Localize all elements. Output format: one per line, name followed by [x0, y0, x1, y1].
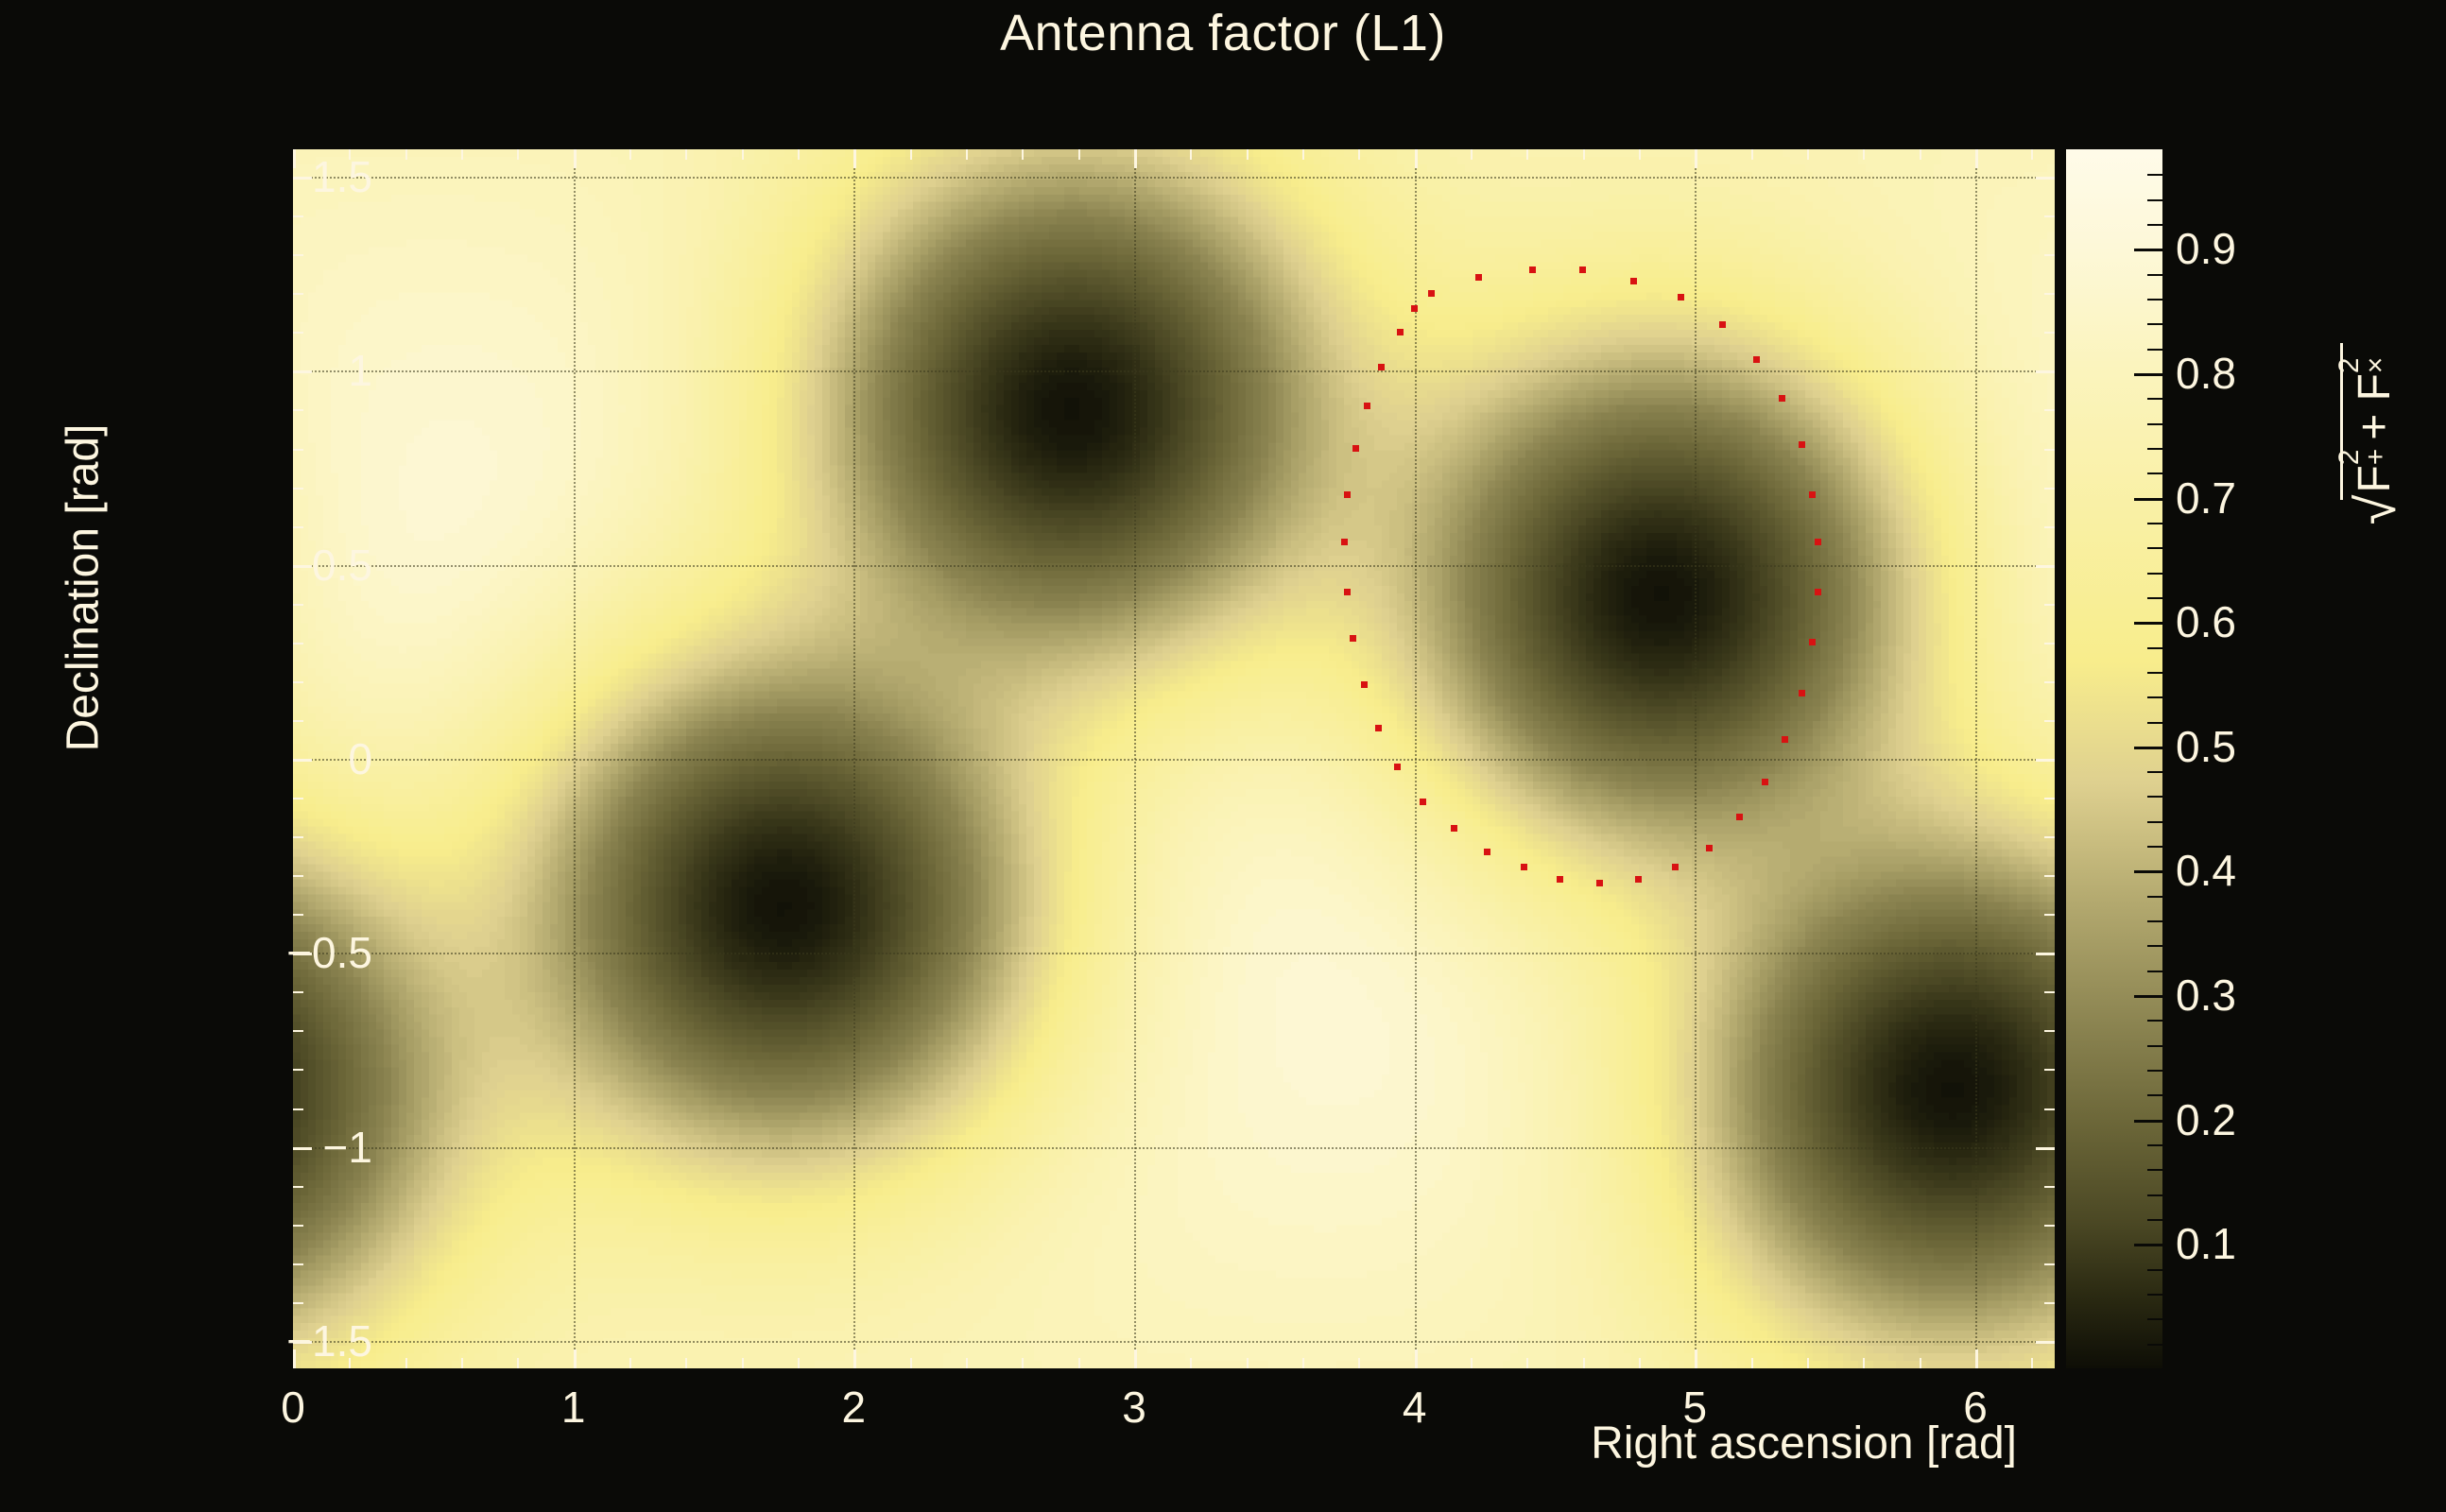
colorbar-tick-label: 0.4: [2176, 845, 2236, 896]
y-tick-minor: [293, 681, 303, 683]
colorbar-tick-minor: [2147, 647, 2162, 649]
colorbar-tick-major: [2134, 870, 2162, 873]
colorbar-tick-marks: [2066, 149, 2162, 1368]
contour-point: [1411, 305, 1418, 312]
contour-point: [1428, 290, 1435, 297]
y-axis-title: Declination [rad]: [55, 149, 112, 1368]
x-tick-minor-top: [1078, 149, 1080, 160]
contour-point: [1521, 864, 1527, 870]
colorbar-tick-minor: [2147, 349, 2162, 351]
x-tick-major: [1134, 1349, 1137, 1368]
x-tick-minor-top: [1583, 149, 1585, 160]
x-tick-minor: [517, 1358, 519, 1368]
contour-point: [1451, 825, 1457, 832]
y-tick-minor-right: [2044, 332, 2055, 334]
contour-point: [1484, 849, 1490, 855]
colorbar-tick-minor: [2147, 1344, 2162, 1346]
heatmap-image: [293, 149, 2055, 1368]
x-tick-minor: [798, 1358, 800, 1368]
x-tick-minor-top: [1807, 149, 1809, 160]
contour-point: [1579, 266, 1586, 273]
colorbar-tick-minor: [2147, 1070, 2162, 1072]
x-tick-minor-top: [910, 149, 912, 160]
colorbar-tick-minor: [2147, 821, 2162, 823]
x-tick-minor: [1302, 1358, 1304, 1368]
y-tick-minor-right: [2044, 526, 2055, 528]
y-tick-label: 1: [348, 345, 372, 396]
plus-operator: +: [2350, 414, 2400, 440]
x-tick-major-top: [1134, 149, 1137, 168]
x-tick-major-top: [1975, 149, 1978, 168]
contour-point: [1341, 539, 1348, 545]
y-tick-major-right: [2036, 177, 2055, 180]
colorbar-tick-minor: [2147, 423, 2162, 425]
colorbar-tick-major: [2134, 1244, 2162, 1246]
contour-point: [1352, 445, 1359, 452]
y-tick-minor: [293, 914, 303, 916]
colorbar-tick-minor: [2147, 846, 2162, 848]
y-tick-major-right: [2036, 1341, 2055, 1344]
x-tick-minor-top: [461, 149, 463, 160]
x-tick-minor-top: [1358, 149, 1360, 160]
colorbar-tick-minor: [2147, 696, 2162, 698]
x-tick-minor-top: [742, 149, 744, 160]
contour-point: [1779, 395, 1785, 402]
y-tick-minor: [293, 409, 303, 411]
x-tick-minor: [1920, 1358, 1921, 1368]
colorbar-tick-minor: [2147, 1020, 2162, 1022]
colorbar-tick-minor: [2147, 1045, 2162, 1047]
x-tick-major: [1695, 1349, 1697, 1368]
y-tick-minor: [293, 875, 303, 877]
contour-point: [1753, 356, 1760, 363]
colorbar-tick-label: 0.8: [2176, 348, 2236, 399]
y-tick-minor: [293, 991, 303, 993]
x-tick-major-top: [1415, 149, 1418, 168]
colorbar-tick-minor: [2147, 771, 2162, 773]
x-tick-minor-top: [629, 149, 631, 160]
x-tick-minor: [629, 1358, 631, 1368]
y-tick-minor-right: [2044, 798, 2055, 799]
contour-point: [1635, 876, 1642, 883]
y-tick-minor-right: [2044, 409, 2055, 411]
contour-point: [1799, 441, 1805, 448]
x-tick-minor-top: [517, 149, 519, 160]
contour-point: [1678, 294, 1684, 301]
colorbar-tick-minor: [2147, 448, 2162, 450]
colorbar-tick-label: 0.9: [2176, 223, 2236, 274]
x-tick-minor: [1358, 1358, 1360, 1368]
y-tick-minor-right: [2044, 1225, 2055, 1227]
contour-point: [1596, 880, 1603, 886]
y-tick-major: [293, 370, 312, 373]
x-tick-minor-top: [798, 149, 800, 160]
colorbar-tick-minor: [2147, 547, 2162, 549]
x-tick-minor-top: [966, 149, 968, 160]
x-tick-major-top: [853, 149, 856, 168]
contour-point: [1815, 589, 1821, 595]
y-tick-minor-right: [2044, 1030, 2055, 1032]
colorbar-tick-minor: [2147, 796, 2162, 798]
x-tick-major-top: [293, 149, 296, 168]
colorbar-tick-major: [2134, 1120, 2162, 1123]
contour-point: [1799, 690, 1805, 696]
y-tick-minor-right: [2044, 1108, 2055, 1110]
colorbar-tick-major: [2134, 498, 2162, 501]
contour-point: [1397, 329, 1404, 335]
x-tick-minor: [966, 1358, 968, 1368]
colorbar-tick-label: 0.5: [2176, 721, 2236, 772]
x-tick-minor-top: [685, 149, 687, 160]
contour-point: [1630, 278, 1637, 284]
y-tick-minor: [293, 293, 303, 295]
y-tick-minor-right: [2044, 720, 2055, 722]
x-tick-minor: [685, 1358, 687, 1368]
y-tick-minor: [293, 720, 303, 722]
x-tick-minor: [1807, 1358, 1809, 1368]
contour-point: [1394, 764, 1401, 770]
x-tick-minor-top: [1022, 149, 1024, 160]
y-tick-minor-right: [2044, 1186, 2055, 1188]
x-tick-minor: [1639, 1358, 1641, 1368]
x-tick-minor: [1583, 1358, 1585, 1368]
y-tick-minor: [293, 1069, 303, 1071]
y-tick-major: [293, 177, 312, 180]
colorbar-tick-minor: [2147, 224, 2162, 226]
y-tick-minor-right: [2044, 991, 2055, 993]
y-tick-minor: [293, 1108, 303, 1110]
x-tick-minor: [1022, 1358, 1024, 1368]
y-tick-minor: [293, 643, 303, 644]
y-tick-minor-right: [2044, 449, 2055, 451]
contour-point: [1815, 539, 1821, 545]
colorbar-tick-minor: [2147, 971, 2162, 972]
colorbar-tick-minor: [2147, 174, 2162, 176]
x-tick-minor: [1863, 1358, 1865, 1368]
colorbar-tick-major: [2134, 747, 2162, 749]
contour-point: [1809, 491, 1816, 498]
colorbar-tick-minor: [2147, 199, 2162, 201]
y-tick-minor-right: [2044, 681, 2055, 683]
colorbar-title-text: √F2++ F2×: [2340, 191, 2404, 682]
colorbar-tick-major: [2134, 995, 2162, 998]
y-tick-minor-right: [2044, 1263, 2055, 1265]
sqrt-icon: √F2++ F2×: [2340, 343, 2404, 531]
x-tick-minor-top: [2031, 149, 2033, 160]
colorbar-tick-minor: [2147, 523, 2162, 524]
y-tick-label: 1.5: [312, 151, 372, 202]
colorbar-tick-minor: [2147, 1169, 2162, 1171]
contour-point: [1529, 266, 1536, 273]
colorbar-tick-label: 0.1: [2176, 1218, 2236, 1269]
contour-point: [1719, 321, 1726, 328]
colorbar-tick-minor: [2147, 597, 2162, 599]
colorbar-tick-minor: [2147, 472, 2162, 474]
y-tick-minor-right: [2044, 215, 2055, 217]
contour-point: [1782, 736, 1788, 743]
f-plus-term: F2+: [2349, 465, 2401, 492]
x-tick-minor-top: [1526, 149, 1528, 160]
x-tick-minor-top: [1471, 149, 1473, 160]
x-tick-minor: [1751, 1358, 1753, 1368]
colorbar-tick-minor: [2147, 1094, 2162, 1096]
y-tick-minor: [293, 1030, 303, 1032]
contour-point: [1378, 364, 1385, 370]
colorbar-tick-minor: [2147, 274, 2162, 276]
x-tick-minor-top: [1190, 149, 1192, 160]
radicand: F2++ F2×: [2340, 343, 2401, 501]
contour-point: [1350, 635, 1356, 642]
y-tick-minor-right: [2044, 293, 2055, 295]
y-tick-label: 0.5: [312, 540, 372, 591]
page-title: Antenna factor (L1): [0, 4, 2446, 62]
y-tick-minor: [293, 488, 303, 490]
heatmap-plot-area: [293, 149, 2055, 1368]
x-tick-major-top: [1695, 149, 1697, 168]
y-tick-minor-right: [2044, 875, 2055, 877]
colorbar-tick-label: 0.2: [2176, 1094, 2236, 1145]
y-tick-minor: [293, 332, 303, 334]
colorbar-tick-major: [2134, 249, 2162, 251]
y-tick-major: [293, 1147, 312, 1150]
colorbar-tick-minor: [2147, 672, 2162, 674]
y-tick-minor-right: [2044, 254, 2055, 256]
x-tick-minor: [405, 1358, 407, 1368]
contour-point: [1809, 639, 1816, 645]
x-tick-minor-top: [1920, 149, 1921, 160]
colorbar-title: √F2++ F2×: [2287, 149, 2429, 735]
colorbar-tick-minor: [2147, 1219, 2162, 1221]
y-tick-label: −1: [323, 1122, 372, 1173]
contour-point: [1344, 491, 1351, 498]
contour-point: [1736, 814, 1743, 820]
contour-point: [1762, 779, 1768, 785]
colorbar-tick-minor: [2147, 1269, 2162, 1271]
contour-point: [1364, 403, 1370, 409]
y-tick-minor-right: [2044, 914, 2055, 916]
x-tick-major-top: [574, 149, 577, 168]
contour-point: [1706, 845, 1713, 851]
x-tick-minor: [910, 1358, 912, 1368]
y-tick-major-right: [2036, 565, 2055, 568]
x-tick-major: [1415, 1349, 1418, 1368]
y-tick-minor: [293, 1302, 303, 1304]
colorbar-tick-minor: [2147, 1294, 2162, 1296]
x-tick-major: [1975, 1349, 1978, 1368]
y-tick-label: 0: [348, 733, 372, 784]
colorbar-tick-minor: [2147, 896, 2162, 898]
x-tick-major: [853, 1349, 856, 1368]
y-tick-major: [293, 759, 312, 762]
contour-point: [1475, 274, 1482, 281]
colorbar-tick-major: [2134, 622, 2162, 625]
x-tick-minor-top: [1302, 149, 1304, 160]
colorbar-tick-major: [2134, 373, 2162, 376]
y-tick-minor: [293, 798, 303, 799]
x-tick-minor: [1526, 1358, 1528, 1368]
x-tick-minor-top: [405, 149, 407, 160]
y-tick-minor-right: [2044, 643, 2055, 644]
x-tick-minor: [1471, 1358, 1473, 1368]
y-tick-label: −1.5: [286, 1315, 372, 1366]
colorbar-tick-minor: [2147, 1144, 2162, 1146]
x-tick-minor-top: [1863, 149, 1865, 160]
colorbar-tick-minor: [2147, 722, 2162, 724]
y-tick-minor-right: [2044, 1302, 2055, 1304]
contour-point: [1375, 725, 1382, 731]
colorbar-tick-label: 0.7: [2176, 472, 2236, 524]
colorbar-tick-minor: [2147, 299, 2162, 301]
x-axis-title: Right ascension [rad]: [0, 1417, 2055, 1469]
y-tick-minor: [293, 836, 303, 838]
x-tick-minor: [742, 1358, 744, 1368]
y-tick-minor: [293, 526, 303, 528]
y-tick-minor-right: [2044, 836, 2055, 838]
colorbar-tick-minor: [2147, 398, 2162, 400]
contour-point: [1344, 589, 1351, 595]
y-tick-minor: [293, 254, 303, 256]
x-tick-minor-top: [1639, 149, 1641, 160]
y-tick-major-right: [2036, 370, 2055, 373]
contour-point: [1557, 876, 1563, 883]
y-tick-minor: [293, 1186, 303, 1188]
y-tick-minor-right: [2044, 604, 2055, 606]
y-tick-major-right: [2036, 953, 2055, 955]
y-tick-minor: [293, 215, 303, 217]
y-tick-major-right: [2036, 759, 2055, 762]
y-tick-minor: [293, 604, 303, 606]
y-tick-minor: [293, 449, 303, 451]
x-tick-minor: [461, 1358, 463, 1368]
y-tick-minor: [293, 1225, 303, 1227]
y-tick-minor: [293, 1263, 303, 1265]
y-tick-major-right: [2036, 1147, 2055, 1150]
y-tick-minor-right: [2044, 488, 2055, 490]
x-tick-minor: [1078, 1358, 1080, 1368]
colorbar-tick-minor: [2147, 573, 2162, 575]
y-tick-major: [293, 565, 312, 568]
colorbar-tick-label: 0.3: [2176, 970, 2236, 1021]
colorbar-tick-minor: [2147, 323, 2162, 325]
x-tick-minor: [1190, 1358, 1192, 1368]
y-axis-title-text: Declination [rad]: [58, 424, 110, 752]
colorbar-tick-minor: [2147, 920, 2162, 922]
colorbar-tick-label: 0.6: [2176, 596, 2236, 647]
x-tick-minor-top: [1247, 149, 1249, 160]
x-tick-major: [574, 1349, 577, 1368]
colorbar-tick-minor: [2147, 1194, 2162, 1196]
contour-point: [1420, 799, 1426, 805]
contour-point: [1361, 681, 1368, 688]
f-cross-term: F2×: [2349, 373, 2401, 401]
x-tick-minor-top: [1751, 149, 1753, 160]
colorbar-tick-minor: [2147, 1318, 2162, 1320]
y-tick-minor-right: [2044, 1069, 2055, 1071]
x-tick-minor: [1247, 1358, 1249, 1368]
plot-canvas: Antenna factor (L1) 1.510.50−0.5−1−1.5 0…: [0, 0, 2446, 1512]
colorbar-tick-minor: [2147, 945, 2162, 947]
contour-point: [1672, 864, 1679, 870]
x-tick-minor: [2031, 1358, 2033, 1368]
y-tick-label: −0.5: [286, 927, 372, 978]
